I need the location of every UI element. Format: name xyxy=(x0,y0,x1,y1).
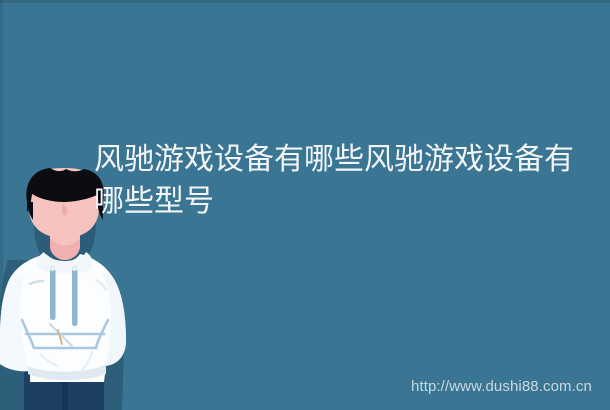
page-title: 风驰游戏设备有哪些风驰游戏设备有哪些型号 xyxy=(94,139,594,223)
site-watermark: http://www.dushi88.com.cn xyxy=(411,378,592,396)
top-edge-shade xyxy=(0,0,610,3)
promo-banner: 风驰游戏设备有哪些风驰游戏设备有哪些型号 http://www.dushi88.… xyxy=(0,0,610,410)
